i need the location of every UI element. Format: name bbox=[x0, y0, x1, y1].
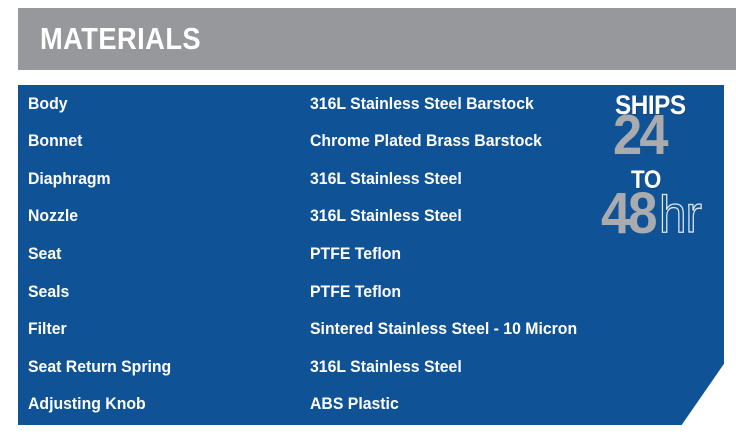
row-material-value: PTFE Teflon bbox=[310, 282, 401, 302]
table-row: Seat Return Spring 316L Stainless Steel bbox=[18, 348, 724, 385]
row-material-value: 316L Stainless Steel bbox=[310, 206, 462, 226]
row-component-label: Seat Return Spring bbox=[28, 357, 171, 377]
row-component-label: Body bbox=[28, 94, 68, 114]
row-material-value: Sintered Stainless Steel - 10 Micron bbox=[310, 319, 577, 339]
row-material-value: 316L Stainless Steel Barstock bbox=[310, 94, 534, 114]
row-material-value: 316L Stainless Steel bbox=[310, 357, 462, 377]
table-row: Seat PTFE Teflon bbox=[18, 235, 724, 272]
table-row: Bonnet Chrome Plated Brass Barstock bbox=[18, 122, 724, 159]
row-component-label: Filter bbox=[28, 319, 67, 339]
row-component-label: Seals bbox=[28, 282, 69, 302]
row-component-label: Diaphragm bbox=[28, 169, 111, 189]
row-material-value: PTFE Teflon bbox=[310, 244, 401, 264]
row-component-label: Adjusting Knob bbox=[28, 394, 146, 414]
table-row: Adjusting Knob ABS Plastic bbox=[18, 385, 724, 422]
table-row: Filter Sintered Stainless Steel - 10 Mic… bbox=[18, 310, 724, 347]
table-row: Seals PTFE Teflon bbox=[18, 273, 724, 310]
row-material-value: 316L Stainless Steel bbox=[310, 169, 462, 189]
row-component-label: Bonnet bbox=[28, 131, 82, 151]
row-material-value: ABS Plastic bbox=[310, 394, 399, 414]
table-row: Body 316L Stainless Steel Barstock bbox=[18, 85, 724, 122]
materials-panel: Body 316L Stainless Steel Barstock Bonne… bbox=[18, 85, 724, 425]
table-row: Nozzle 316L Stainless Steel bbox=[18, 197, 724, 234]
materials-header-bar: MATERIALS bbox=[18, 8, 736, 70]
row-component-label: Seat bbox=[28, 244, 61, 264]
page-title: MATERIALS bbox=[40, 21, 201, 57]
table-row: Diaphragm 316L Stainless Steel bbox=[18, 160, 724, 197]
row-material-value: Chrome Plated Brass Barstock bbox=[310, 131, 542, 151]
row-component-label: Nozzle bbox=[28, 206, 78, 226]
